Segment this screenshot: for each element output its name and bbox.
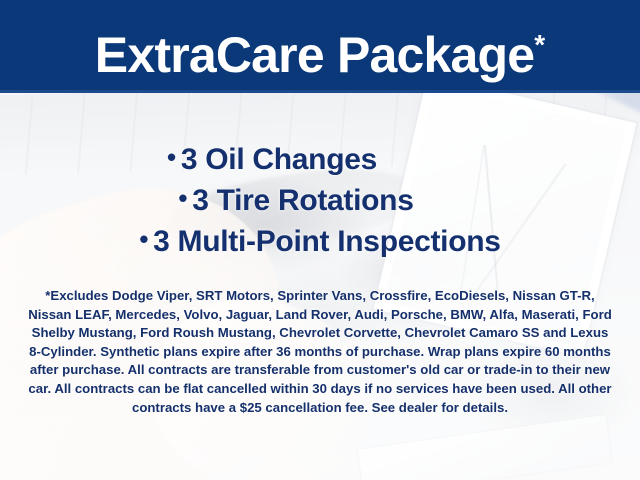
bullet-icon: • <box>167 142 176 172</box>
page-title-asterisk: * <box>534 29 545 60</box>
benefit-label: 3 Multi-Point Inspections <box>153 225 501 258</box>
benefit-item-multi-point-inspections: •3 Multi-Point Inspections <box>0 220 640 261</box>
benefit-label: 3 Tire Rotations <box>192 184 413 217</box>
bullet-icon: • <box>178 183 187 213</box>
benefit-item-oil-changes: •3 Oil Changes <box>0 138 640 179</box>
disclaimer-text: *Excludes Dodge Viper, SRT Motors, Sprin… <box>28 287 612 417</box>
benefits-list: •3 Oil Changes •3 Tire Rotations •3 Mult… <box>0 138 640 261</box>
header-band: ExtraCare Package* <box>0 0 640 93</box>
benefit-label: 3 Oil Changes <box>181 143 377 176</box>
bullet-icon: • <box>139 224 148 254</box>
disclaimer-block: *Excludes Dodge Viper, SRT Motors, Sprin… <box>28 287 612 417</box>
page-title-text: ExtraCare Package <box>95 27 534 83</box>
page-title: ExtraCare Package* <box>0 16 640 84</box>
benefit-item-tire-rotations: •3 Tire Rotations <box>0 179 640 220</box>
extracare-package-banner: ExtraCare Package* •3 Oil Changes •3 Tir… <box>0 0 640 480</box>
